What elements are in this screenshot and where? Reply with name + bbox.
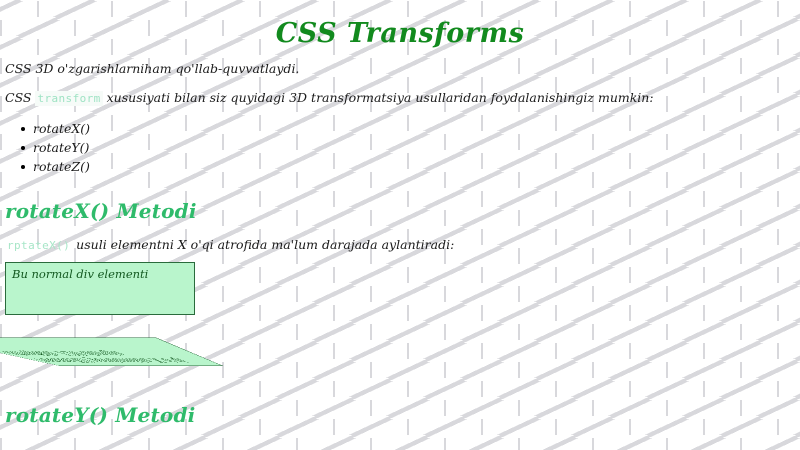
rotatex-div-box: rotateX() yordamida X o'qi atrofida 120 …: [0, 337, 224, 366]
spacer: [5, 382, 795, 402]
spacer: [5, 77, 795, 89]
section-heading-rotatey: rotateY() Metodi: [5, 402, 795, 428]
transform-code-token: transform: [35, 91, 102, 106]
method-list: rotateX() rotateY() rotateZ(): [5, 121, 795, 175]
list-item-label: rotateX(): [33, 121, 90, 136]
page-title: CSS Transforms: [5, 0, 795, 51]
perspective-container: rotateX() yordamida X o'qi atrofida 120 …: [5, 326, 795, 382]
list-item-label: rotateY(): [33, 140, 89, 155]
list-item: rotateZ(): [33, 159, 795, 175]
rotatex-div-box-text: rotateX() yordamida X o'qi atrofida 120 …: [0, 349, 213, 364]
spacer: [5, 224, 795, 236]
list-item: rotateY(): [33, 140, 795, 156]
rotatex-description-text: usuli elementni X o'qi atrofida ma'lum d…: [72, 237, 454, 252]
list-item-label: rotateZ(): [33, 159, 90, 174]
spacer: [5, 254, 795, 262]
spacer: [5, 107, 795, 121]
normal-div-box: Bu normal div elementi: [5, 262, 195, 315]
intro-suffix-text: xususiyati bilan siz quyidagi 3D transfo…: [103, 90, 654, 105]
section-heading-rotatex: rotateX() Metodi: [5, 198, 795, 224]
spacer: [5, 315, 795, 326]
page-root: CSS Transforms CSS 3D o'zgarishlarniham …: [0, 0, 800, 450]
intro-paragraph-2: CSS transform xususiyati bilan siz quyid…: [5, 89, 795, 107]
intro-prefix-text: CSS: [5, 90, 35, 105]
page-content: CSS Transforms CSS 3D o'zgarishlarniham …: [0, 0, 800, 428]
intro-paragraph-1: CSS 3D o'zgarishlarniham qo'llab-quvvatl…: [5, 60, 795, 77]
normal-div-box-text: Bu normal div elementi: [12, 267, 148, 281]
rotatex-description: rptateX() usuli elementni X o'qi atrofid…: [5, 236, 795, 254]
spacer: [5, 51, 795, 60]
spacer: [5, 178, 795, 198]
list-item: rotateX(): [33, 121, 795, 137]
rotatex-code-token: rptateX(): [5, 238, 72, 253]
